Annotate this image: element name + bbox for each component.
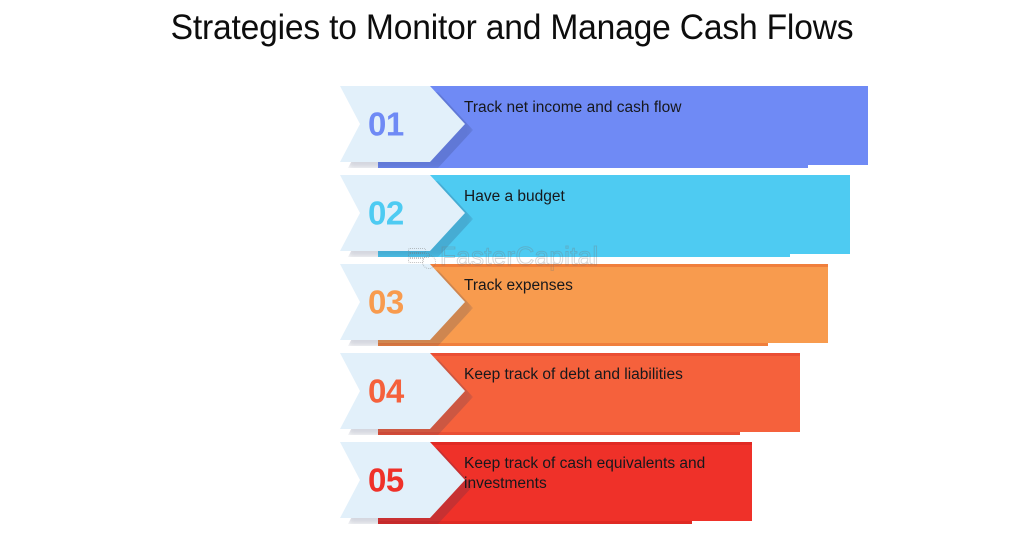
step-label: Keep track of debt and liabilities [464, 365, 764, 385]
step-row[interactable]: 05Keep track of cash equivalents and inv… [0, 442, 752, 524]
step-number: 01 [368, 108, 404, 141]
step-row[interactable]: 03Track expenses [0, 264, 828, 346]
step-label: Have a budget [464, 187, 764, 207]
step-label: Track expenses [464, 276, 764, 296]
steps-list: 01Track net income and cash flow02Have a… [0, 0, 1024, 535]
step-row[interactable]: 01Track net income and cash flow [0, 86, 868, 168]
step-label: Keep track of cash equivalents and inves… [464, 454, 764, 495]
step-row[interactable]: 02Have a budget [0, 175, 850, 257]
step-rule-bottom [378, 165, 808, 168]
step-number: 03 [368, 286, 404, 319]
step-number: 02 [368, 197, 404, 230]
step-label: Track net income and cash flow [464, 98, 764, 118]
step-number: 04 [368, 375, 404, 408]
step-number: 05 [368, 464, 404, 497]
step-row[interactable]: 04Keep track of debt and liabilities [0, 353, 800, 435]
